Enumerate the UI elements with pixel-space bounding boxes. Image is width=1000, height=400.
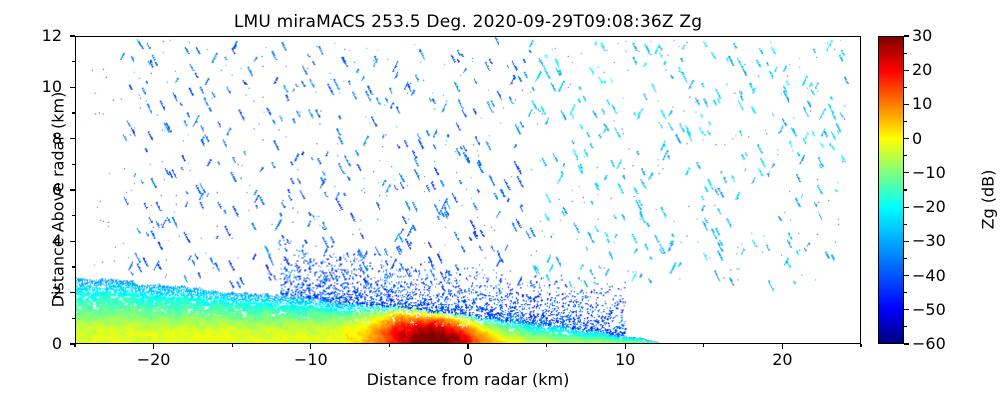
colorbar-tick-label: −30	[912, 231, 946, 250]
x-tick-label: 20	[752, 350, 812, 369]
colorbar-tick-label: −50	[912, 300, 946, 319]
colorbar-tick-minor	[904, 121, 907, 122]
colorbar-tick-minor	[904, 155, 907, 156]
y-tick-minor	[72, 61, 75, 62]
y-tick	[70, 138, 75, 139]
y-tick-minor	[72, 112, 75, 113]
colorbar-tick-label: −10	[912, 163, 946, 182]
x-tick-minor	[546, 344, 547, 347]
x-tick-label: −20	[124, 350, 184, 369]
x-tick-label: 10	[595, 350, 655, 369]
x-tick-minor	[232, 344, 233, 347]
y-tick	[70, 35, 75, 36]
y-tick-minor	[72, 164, 75, 165]
plot-title: LMU miraMACS 253.5 Deg. 2020-09-29T09:08…	[75, 12, 861, 32]
colorbar-tick-label: −60	[912, 334, 946, 353]
x-tick	[310, 344, 311, 349]
colorbar-tick-label: 30	[912, 26, 932, 45]
x-tick-minor	[703, 344, 704, 347]
colorbar-title: Zg (dB)	[979, 50, 998, 350]
plot-axes-area	[75, 36, 861, 344]
colorbar-tick-minor	[904, 292, 907, 293]
x-tick-minor	[389, 344, 390, 347]
x-tick-minor	[860, 344, 861, 347]
colorbar-tick-minor	[904, 53, 907, 54]
colorbar-tick	[904, 275, 909, 276]
y-tick	[70, 241, 75, 242]
y-axis-title: Distance Above radar (km)	[49, 50, 68, 350]
y-tick	[70, 189, 75, 190]
colorbar-tick	[904, 241, 909, 242]
y-tick-minor	[72, 215, 75, 216]
y-tick-label: 12	[0, 26, 62, 45]
x-tick	[782, 344, 783, 349]
colorbar-tick-label: 20	[912, 60, 932, 79]
colorbar-tick	[904, 138, 909, 139]
y-tick-minor	[72, 318, 75, 319]
colorbar-tick-label: −40	[912, 266, 946, 285]
colorbar-tick	[904, 70, 909, 71]
x-tick-label: −10	[281, 350, 341, 369]
colorbar-tick-minor	[904, 87, 907, 88]
y-tick-minor	[72, 266, 75, 267]
colorbar-tick	[904, 309, 909, 310]
y-tick	[70, 292, 75, 293]
colorbar-tick-minor	[904, 326, 907, 327]
colorbar-tick-label: 10	[912, 94, 932, 113]
colorbar-tick-minor	[904, 258, 907, 259]
colorbar-tick	[904, 35, 909, 36]
colorbar-tick-label: 0	[912, 129, 922, 148]
x-tick	[153, 344, 154, 349]
y-tick	[70, 87, 75, 88]
radar-rhi-figure: LMU miraMACS 253.5 Deg. 2020-09-29T09:08…	[0, 0, 1000, 400]
y-tick	[70, 343, 75, 344]
radar-reflectivity-heatmap	[76, 37, 860, 343]
colorbar-tick	[904, 172, 909, 173]
x-tick	[467, 344, 468, 349]
colorbar-tick-minor	[904, 189, 907, 190]
colorbar-gradient	[878, 36, 904, 344]
colorbar-tick-label: −20	[912, 197, 946, 216]
colorbar-tick-minor	[904, 224, 907, 225]
x-tick-label: 0	[438, 350, 498, 369]
colorbar-tick	[904, 207, 909, 208]
colorbar-tick	[904, 343, 909, 344]
x-axis-title: Distance from radar (km)	[75, 370, 861, 389]
x-tick	[625, 344, 626, 349]
colorbar-tick	[904, 104, 909, 105]
